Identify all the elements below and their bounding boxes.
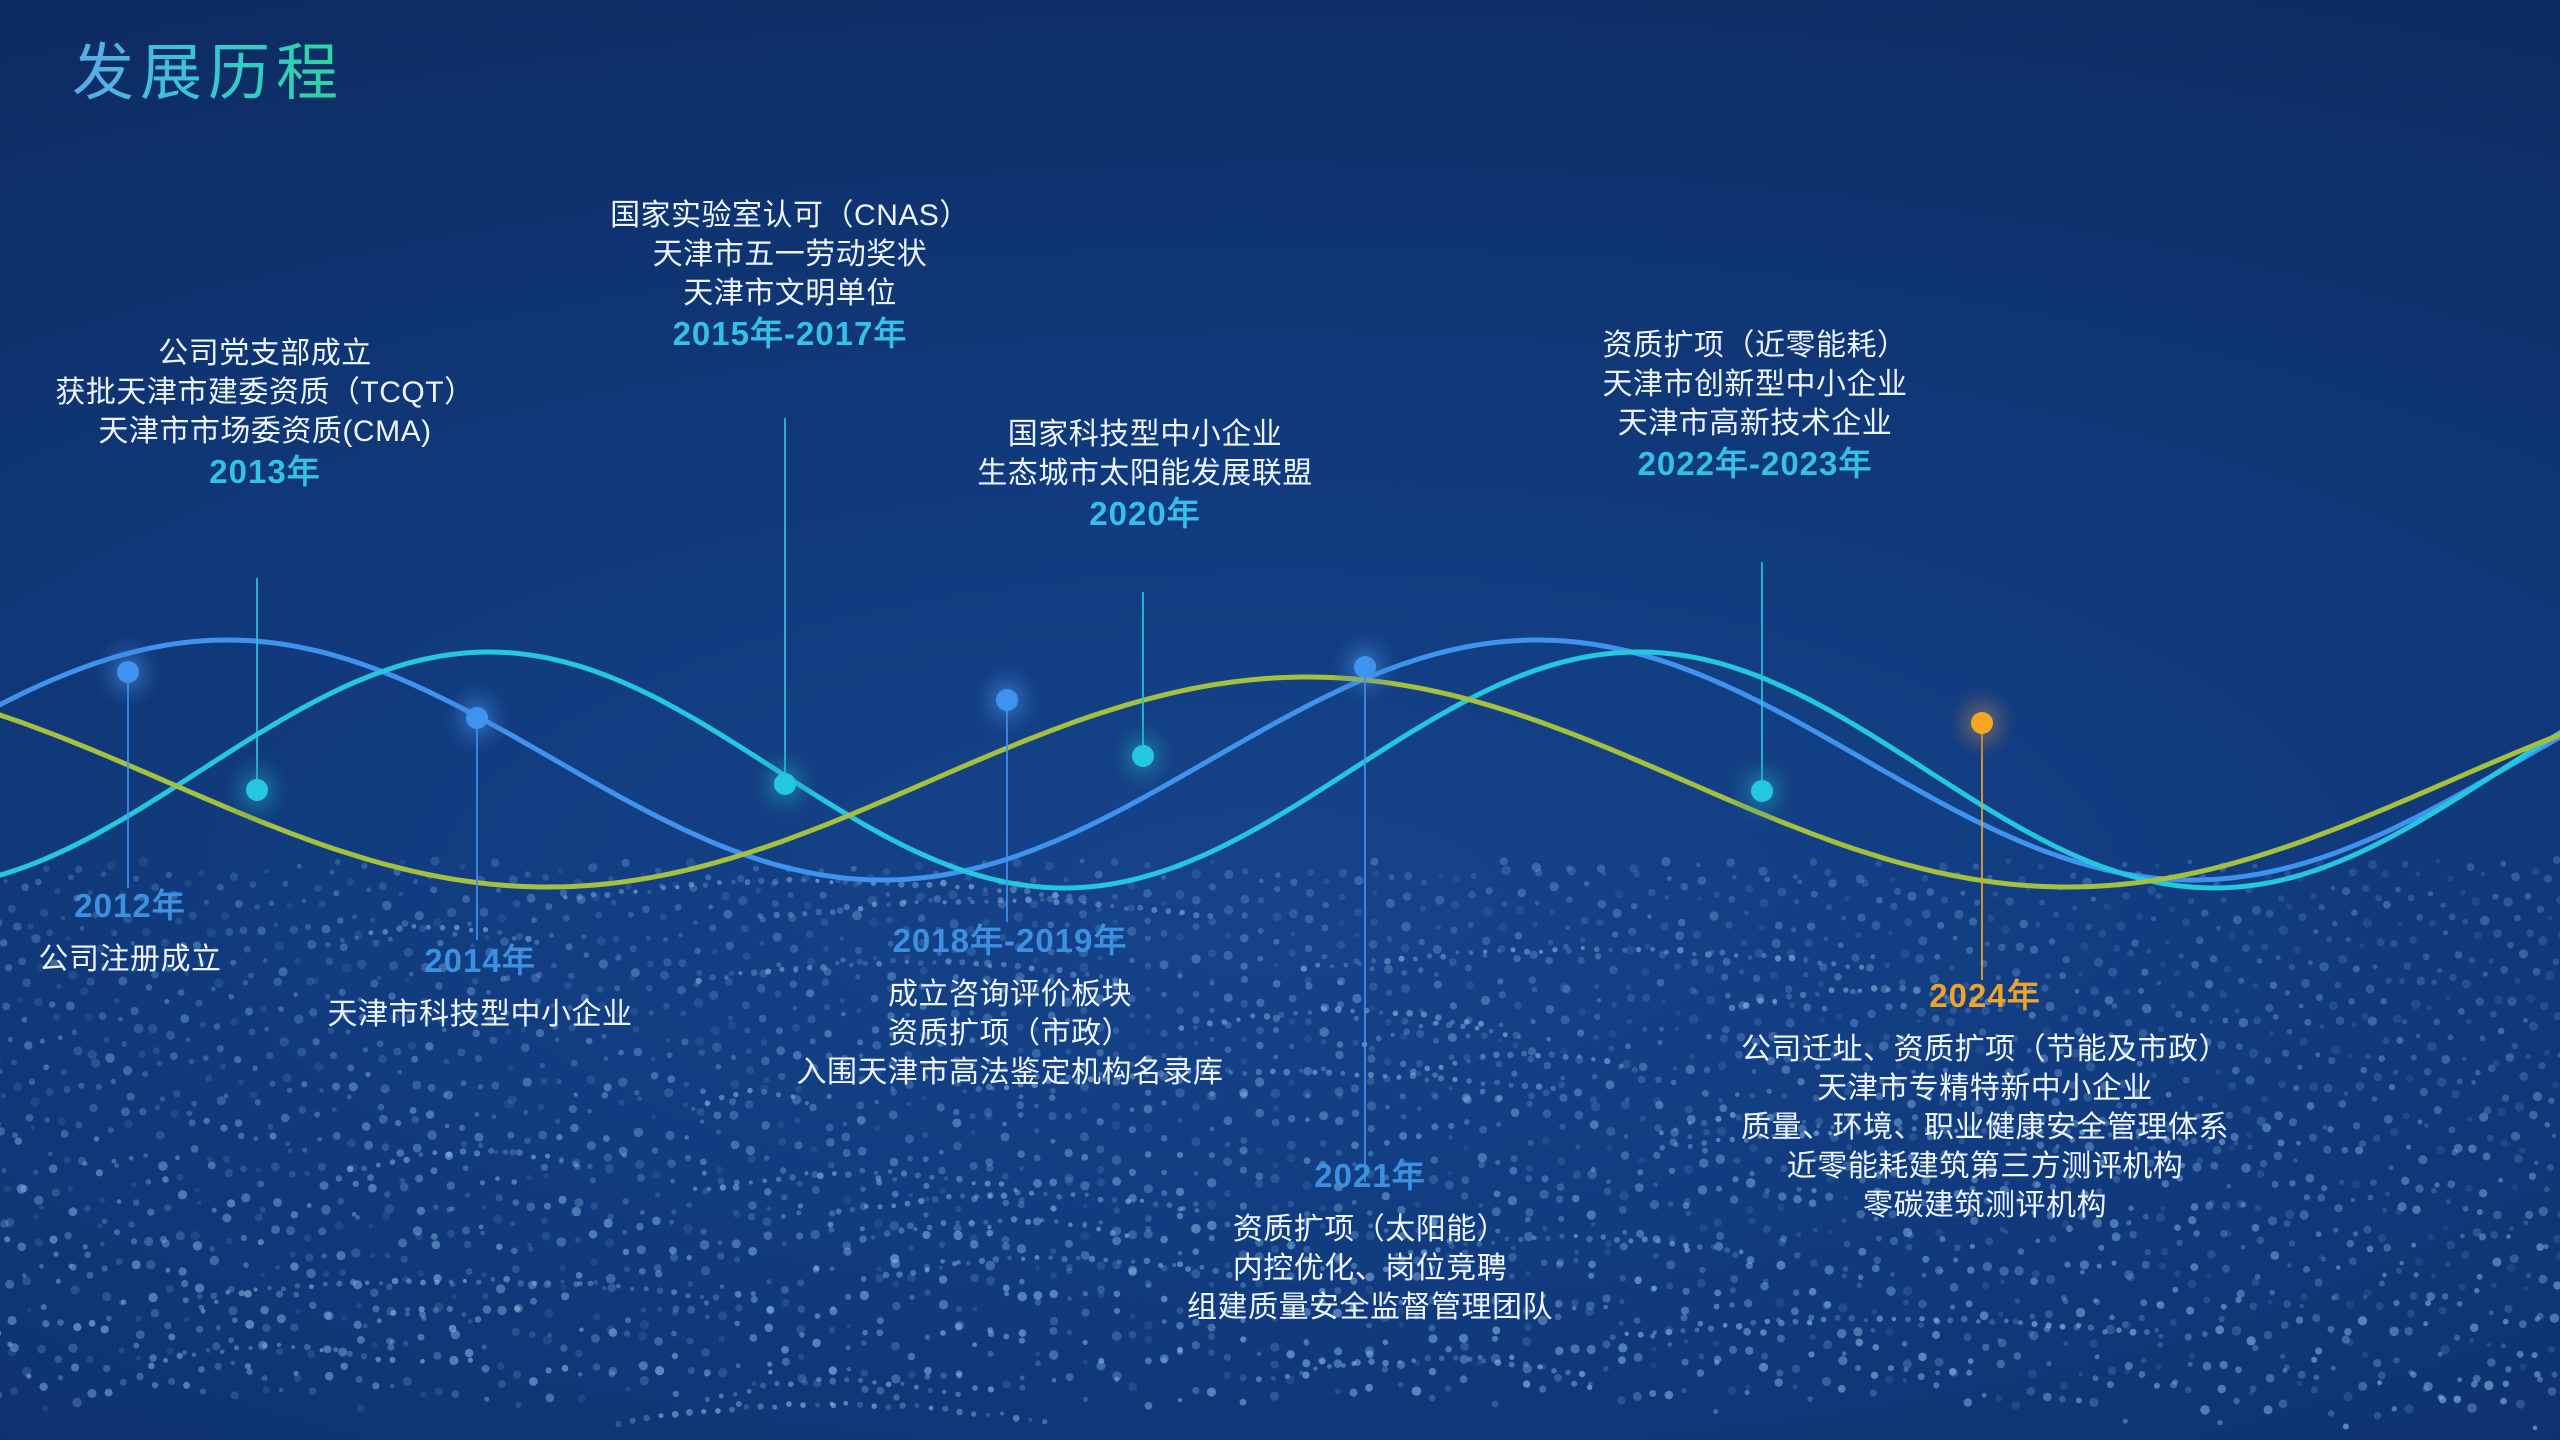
milestone-lines-2022-2023: 资质扩项（近零能耗）天津市创新型中小企业天津市高新技术企业 — [1490, 326, 2020, 443]
milestone-line: 成立咨询评价板块 — [720, 975, 1300, 1014]
milestone-line: 近零能耗建筑第三方测评机构 — [1605, 1147, 2365, 1186]
milestone-line: 生态城市太阳能发展联盟 — [880, 454, 1410, 493]
milestone-line: 质量、环境、职业健康安全管理体系 — [1605, 1108, 2365, 1147]
milestone-2018-2019[interactable]: 2018年-2019年成立咨询评价板块资质扩项（市政）入围天津市高法鉴定机构名录… — [720, 920, 1300, 1092]
wave-cyan — [0, 652, 2560, 888]
milestone-line: 天津市科技型中小企业 — [265, 995, 695, 1034]
node-halo-2012 — [94, 635, 162, 709]
wave-olive — [0, 677, 2560, 887]
node-halo-2022-2023 — [1728, 754, 1796, 828]
milestone-year-2014: 2014年 — [265, 940, 695, 983]
wave-blue — [0, 640, 2560, 880]
timeline-node-2018-2019[interactable] — [996, 689, 1018, 711]
timeline-node-2012[interactable] — [117, 661, 139, 683]
milestone-lines-2021: 资质扩项（太阳能）内控优化、岗位竞聘组建质量安全监督管理团队 — [1060, 1210, 1680, 1327]
milestone-lines-2014: 天津市科技型中小企业 — [265, 995, 695, 1034]
milestone-lines-2012: 公司注册成立 — [0, 940, 270, 979]
milestone-line: 天津市高新技术企业 — [1490, 404, 2020, 443]
node-halo-2015-2017 — [751, 747, 819, 821]
milestone-lines-2018-2019: 成立咨询评价板块资质扩项（市政）入围天津市高法鉴定机构名录库 — [720, 975, 1300, 1092]
node-halo-2018-2019 — [973, 663, 1041, 737]
milestone-line: 获批天津市建委资质（TCQT） — [0, 373, 545, 412]
timeline-infographic: 发展历程 2012年公司注册成立公司党支部成立获批天津市建委资质（TCQT）天津… — [0, 0, 2560, 1440]
node-halo-2021 — [1331, 630, 1399, 704]
milestone-year-2012: 2012年 — [0, 885, 270, 928]
milestone-line: 入围天津市高法鉴定机构名录库 — [720, 1053, 1300, 1092]
timeline-node-2020[interactable] — [1132, 745, 1154, 767]
timeline-node-2022-2023[interactable] — [1751, 780, 1773, 802]
milestone-line: 公司党支部成立 — [0, 334, 545, 373]
milestone-lines-2015-2017: 国家实验室认可（CNAS）天津市五一劳动奖状天津市文明单位 — [510, 196, 1070, 313]
page-title: 发展历程 — [72, 40, 344, 108]
milestone-2013[interactable]: 公司党支部成立获批天津市建委资质（TCQT）天津市市场委资质(CMA)2013年 — [0, 334, 545, 494]
timeline-node-2015-2017[interactable] — [774, 773, 796, 795]
milestone-line: 零碳建筑测评机构 — [1605, 1186, 2365, 1225]
milestone-line: 资质扩项（太阳能） — [1060, 1210, 1680, 1249]
milestone-line: 资质扩项（近零能耗） — [1490, 326, 2020, 365]
milestone-line: 国家实验室认可（CNAS） — [510, 196, 1070, 235]
milestone-line: 天津市创新型中小企业 — [1490, 365, 2020, 404]
milestone-2021[interactable]: 2021年资质扩项（太阳能）内控优化、岗位竞聘组建质量安全监督管理团队 — [1060, 1155, 1680, 1327]
milestone-line: 资质扩项（市政） — [720, 1014, 1300, 1053]
milestone-year-2020: 2020年 — [880, 493, 1410, 536]
milestone-line: 公司迁址、资质扩项（节能及市政） — [1605, 1030, 2365, 1069]
milestone-lines-2013: 公司党支部成立获批天津市建委资质（TCQT）天津市市场委资质(CMA) — [0, 334, 545, 451]
node-halo-2013 — [223, 753, 291, 827]
milestone-line: 天津市市场委资质(CMA) — [0, 412, 545, 451]
milestone-2014[interactable]: 2014年天津市科技型中小企业 — [265, 940, 695, 1034]
node-halo-2020 — [1109, 719, 1177, 793]
milestone-year-2018-2019: 2018年-2019年 — [720, 920, 1300, 963]
timeline-node-2014[interactable] — [466, 707, 488, 729]
milestone-year-2021: 2021年 — [1060, 1155, 1680, 1198]
milestone-year-2015-2017: 2015年-2017年 — [510, 313, 1070, 356]
milestone-2015-2017[interactable]: 国家实验室认可（CNAS）天津市五一劳动奖状天津市文明单位2015年-2017年 — [510, 196, 1070, 356]
milestone-2020[interactable]: 国家科技型中小企业生态城市太阳能发展联盟2020年 — [880, 415, 1410, 536]
milestone-line: 组建质量安全监督管理团队 — [1060, 1288, 1680, 1327]
milestone-line: 公司注册成立 — [0, 940, 270, 979]
node-halo-2014 — [443, 681, 511, 755]
timeline-node-2024[interactable] — [1971, 712, 1993, 734]
milestone-line: 天津市文明单位 — [510, 274, 1070, 313]
milestone-year-2024: 2024年 — [1605, 975, 2365, 1018]
milestone-lines-2024: 公司迁址、资质扩项（节能及市政）天津市专精特新中小企业质量、环境、职业健康安全管… — [1605, 1030, 2365, 1225]
milestone-line: 国家科技型中小企业 — [880, 415, 1410, 454]
milestone-year-2013: 2013年 — [0, 451, 545, 494]
milestone-line: 内控优化、岗位竞聘 — [1060, 1249, 1680, 1288]
milestone-line: 天津市专精特新中小企业 — [1605, 1069, 2365, 1108]
milestone-line: 天津市五一劳动奖状 — [510, 235, 1070, 274]
milestone-2012[interactable]: 2012年公司注册成立 — [0, 885, 270, 979]
timeline-node-2013[interactable] — [246, 779, 268, 801]
milestone-year-2022-2023: 2022年-2023年 — [1490, 443, 2020, 486]
milestone-lines-2020: 国家科技型中小企业生态城市太阳能发展联盟 — [880, 415, 1410, 493]
timeline-node-2021[interactable] — [1354, 656, 1376, 678]
node-halo-2024 — [1948, 686, 2016, 760]
milestone-2022-2023[interactable]: 资质扩项（近零能耗）天津市创新型中小企业天津市高新技术企业2022年-2023年 — [1490, 326, 2020, 486]
milestone-2024[interactable]: 2024年公司迁址、资质扩项（节能及市政）天津市专精特新中小企业质量、环境、职业… — [1605, 975, 2365, 1225]
